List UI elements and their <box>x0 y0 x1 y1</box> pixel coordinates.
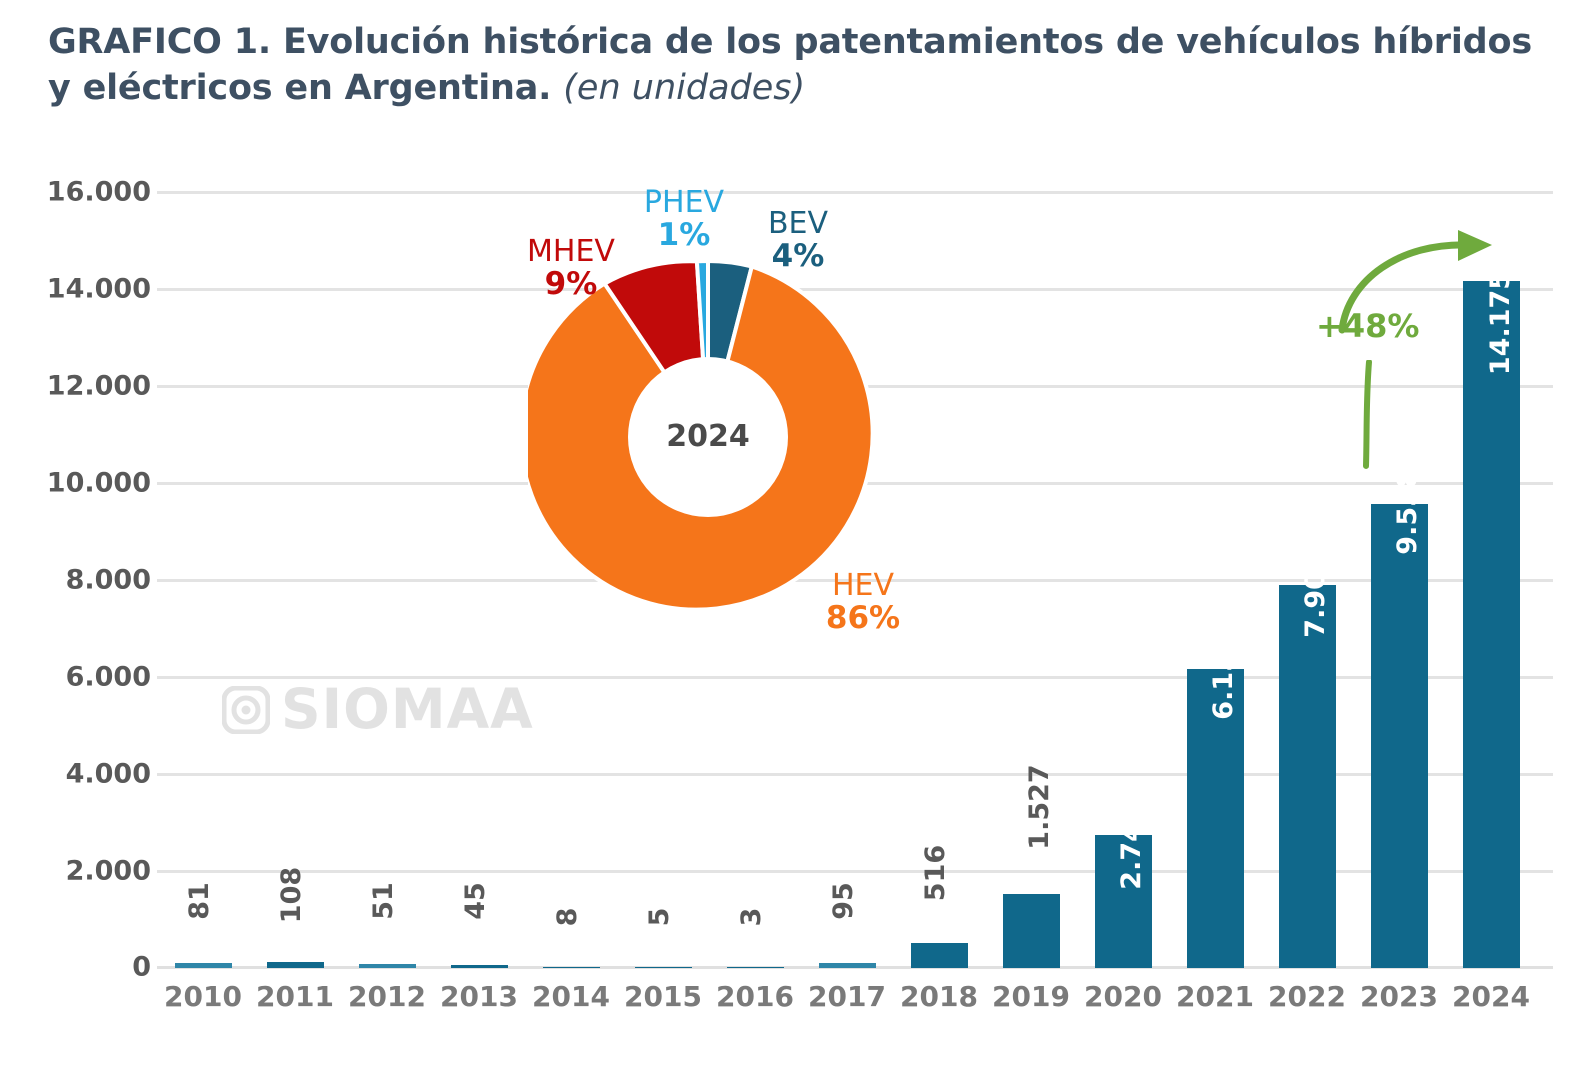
donut-label-phev-name: PHEV <box>644 185 724 220</box>
x-axis-tick-2015: 2015 <box>617 983 709 1011</box>
bar-value-2011: 108 <box>278 850 312 940</box>
bar-value-2021: 6.157 <box>1210 612 1244 742</box>
bar-value-2017: 95 <box>830 856 864 946</box>
bar-2017[interactable] <box>819 963 876 968</box>
x-axis-tick-2013: 2013 <box>433 983 525 1011</box>
bar-value-2014: 8 <box>554 872 588 962</box>
donut-label-phev-value: 1% <box>629 219 739 252</box>
donut-label-mhev-value: 9% <box>516 268 626 301</box>
bar-2010[interactable] <box>175 963 232 968</box>
bar-value-2020: 2.749 <box>1118 782 1152 912</box>
x-axis-tick-2019: 2019 <box>985 983 1077 1011</box>
donut-label-bev-name: BEV <box>768 206 828 241</box>
bar-value-2016: 3 <box>738 872 772 962</box>
x-axis-tick-2017: 2017 <box>801 983 893 1011</box>
y-axis-tick-4000: 4.000 <box>21 761 151 788</box>
donut-label-phev: PHEV 1% <box>629 187 739 253</box>
bar-value-2015: 5 <box>646 872 680 962</box>
y-axis-tick-10000: 10.000 <box>21 470 151 497</box>
bar-value-2018: 516 <box>922 828 956 918</box>
gridline-16000 <box>157 191 1553 194</box>
bar-2018[interactable] <box>911 943 968 968</box>
y-axis-tick-8000: 8.000 <box>21 567 151 594</box>
y-axis-tick-12000: 12.000 <box>21 373 151 400</box>
chart-canvas: 16.000 14.000 12.000 10.000 8.000 6.000 … <box>0 0 1588 1072</box>
x-axis-tick-2022: 2022 <box>1261 983 1353 1011</box>
x-axis-tick-2024: 2024 <box>1445 983 1537 1011</box>
donut-label-hev: HEV 86% <box>808 570 918 636</box>
x-axis-tick-2010: 2010 <box>157 983 249 1011</box>
bar-2019[interactable] <box>1003 894 1060 968</box>
donut-label-hev-name: HEV <box>832 568 894 603</box>
gridline-6000 <box>157 676 1553 679</box>
y-axis-tick-2000: 2.000 <box>21 858 151 885</box>
x-axis-tick-2020: 2020 <box>1077 983 1169 1011</box>
x-axis-tick-2018: 2018 <box>893 983 985 1011</box>
bar-2013[interactable] <box>451 965 508 968</box>
x-axis-tick-2011: 2011 <box>249 983 341 1011</box>
x-axis-tick-2016: 2016 <box>709 983 801 1011</box>
bar-2014[interactable] <box>543 967 600 968</box>
x-axis-tick-2012: 2012 <box>341 983 433 1011</box>
bar-2016[interactable] <box>727 967 784 968</box>
y-axis-tick-0: 0 <box>21 954 151 981</box>
bar-2011[interactable] <box>267 962 324 968</box>
donut-label-hev-value: 86% <box>808 602 918 635</box>
bar-value-2023: 9.558 <box>1394 447 1428 577</box>
siomaa-circle-logo-icon <box>222 686 270 734</box>
donut-label-mhev-name: MHEV <box>527 234 615 269</box>
donut-chart: 2024 <box>528 257 888 617</box>
growth-leader-line-icon <box>1363 360 1373 470</box>
y-axis-tick-6000: 6.000 <box>21 664 151 691</box>
growth-annotation-label: +48% <box>1316 310 1419 342</box>
donut-label-bev-value: 4% <box>748 240 848 273</box>
watermark: SIOMAA <box>222 682 534 737</box>
bar-2015[interactable] <box>635 967 692 968</box>
watermark-text: SIOMAA <box>281 682 534 737</box>
donut-center-year: 2024 <box>666 422 750 452</box>
bar-value-2012: 51 <box>370 856 404 946</box>
donut-label-bev: BEV 4% <box>748 208 848 274</box>
x-axis-tick-2023: 2023 <box>1353 983 1445 1011</box>
bar-value-2022: 7.906 <box>1302 530 1336 660</box>
donut-label-mhev: MHEV 9% <box>516 236 626 302</box>
gridline-4000 <box>157 773 1553 776</box>
x-axis-tick-2021: 2021 <box>1169 983 1261 1011</box>
bar-value-2013: 45 <box>462 856 496 946</box>
bar-value-2010: 81 <box>186 856 220 946</box>
bar-2012[interactable] <box>359 964 416 968</box>
x-axis-tick-2014: 2014 <box>525 983 617 1011</box>
y-axis-tick-16000: 16.000 <box>21 179 151 206</box>
bar-value-2019: 1.527 <box>1026 742 1060 872</box>
y-axis-tick-14000: 14.000 <box>21 276 151 303</box>
